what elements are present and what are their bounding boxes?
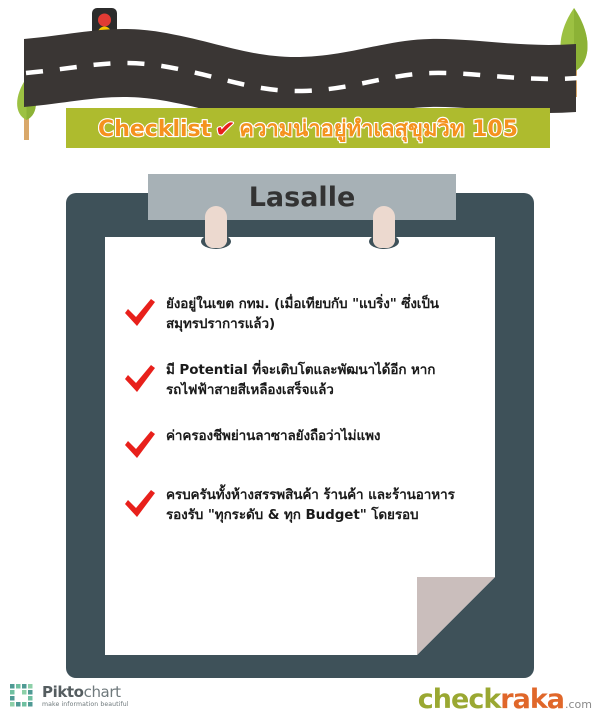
list-item-text: ยังอยู่ในเขต กทม. (เมื่อเทียบกับ "แบริ่ง… <box>166 295 479 335</box>
checkraka-part-check: check <box>418 686 501 713</box>
list-item: ครบครันทั้งห้างสรรพสินค้า ร้านค้า และร้า… <box>123 486 479 526</box>
piktochart-name-light: chart <box>84 683 121 701</box>
piktochart-tagline: make information beautiful <box>42 702 129 708</box>
check-mark-icon <box>123 298 157 328</box>
clip-stalk-bottom <box>373 232 395 248</box>
check-mark-icon <box>123 430 157 460</box>
footer-bar: Piktochart make information beautiful ch… <box>0 680 600 725</box>
location-name-plate: Lasalle <box>148 174 456 220</box>
check-mark-icon <box>123 489 157 519</box>
piktochart-name-bold: Pikto <box>42 683 84 701</box>
checkraka-part-raka: raka <box>500 686 564 713</box>
infographic-canvas: Checklist✔ความน่าอยู่ทำเลสุขุมวิท 105 La… <box>0 0 600 725</box>
list-item-text: มี Potential ที่จะเติบโตและพัฒนาได้อีก ห… <box>166 361 479 401</box>
list-item-text: ค่าครองชีพย่านลาซาลยังถือว่าไม่แพง <box>166 427 380 447</box>
location-name-label: Lasalle <box>249 184 356 211</box>
clip-pin-right <box>373 206 395 252</box>
clip-stalk-bottom <box>205 232 227 248</box>
piktochart-wordmark: Piktochart make information beautiful <box>42 685 129 708</box>
title-text: Checklist✔ความน่าอยู่ทำเลสุขุมวิท 105 <box>98 116 518 141</box>
piktochart-logo[interactable]: Piktochart make information beautiful <box>10 684 129 710</box>
check-mark-icon <box>123 364 157 394</box>
list-item: ยังอยู่ในเขต กทม. (เมื่อเทียบกับ "แบริ่ง… <box>123 295 479 335</box>
checklist-paper: ยังอยู่ในเขต กทม. (เมื่อเทียบกับ "แบริ่ง… <box>105 237 495 655</box>
checkraka-logo[interactable]: checkraka.com <box>418 686 592 713</box>
piktochart-name: Piktochart <box>42 685 129 700</box>
piktochart-grid-icon <box>10 684 36 710</box>
header-road-scene: Checklist✔ความน่าอยู่ทำเลสุขุมวิท 105 <box>0 0 600 158</box>
list-item: มี Potential ที่จะเติบโตและพัฒนาได้อีก ห… <box>123 361 479 401</box>
title-banner: Checklist✔ความน่าอยู่ทำเลสุขุมวิท 105 <box>66 108 550 148</box>
checkraka-dotcom: .com <box>565 698 592 711</box>
clip-pin-left <box>205 206 227 252</box>
title-prefix: Checklist <box>98 117 211 142</box>
title-check-icon: ✔ <box>214 116 237 142</box>
list-item: ค่าครองชีพย่านลาซาลยังถือว่าไม่แพง <box>123 427 479 460</box>
list-item-text: ครบครันทั้งห้างสรรพสินค้า ร้านค้า และร้า… <box>166 486 479 526</box>
checklist-items: ยังอยู่ในเขต กทม. (เมื่อเทียบกับ "แบริ่ง… <box>123 295 479 552</box>
title-main: ความน่าอยู่ทำเลสุขุมวิท 105 <box>239 117 518 142</box>
